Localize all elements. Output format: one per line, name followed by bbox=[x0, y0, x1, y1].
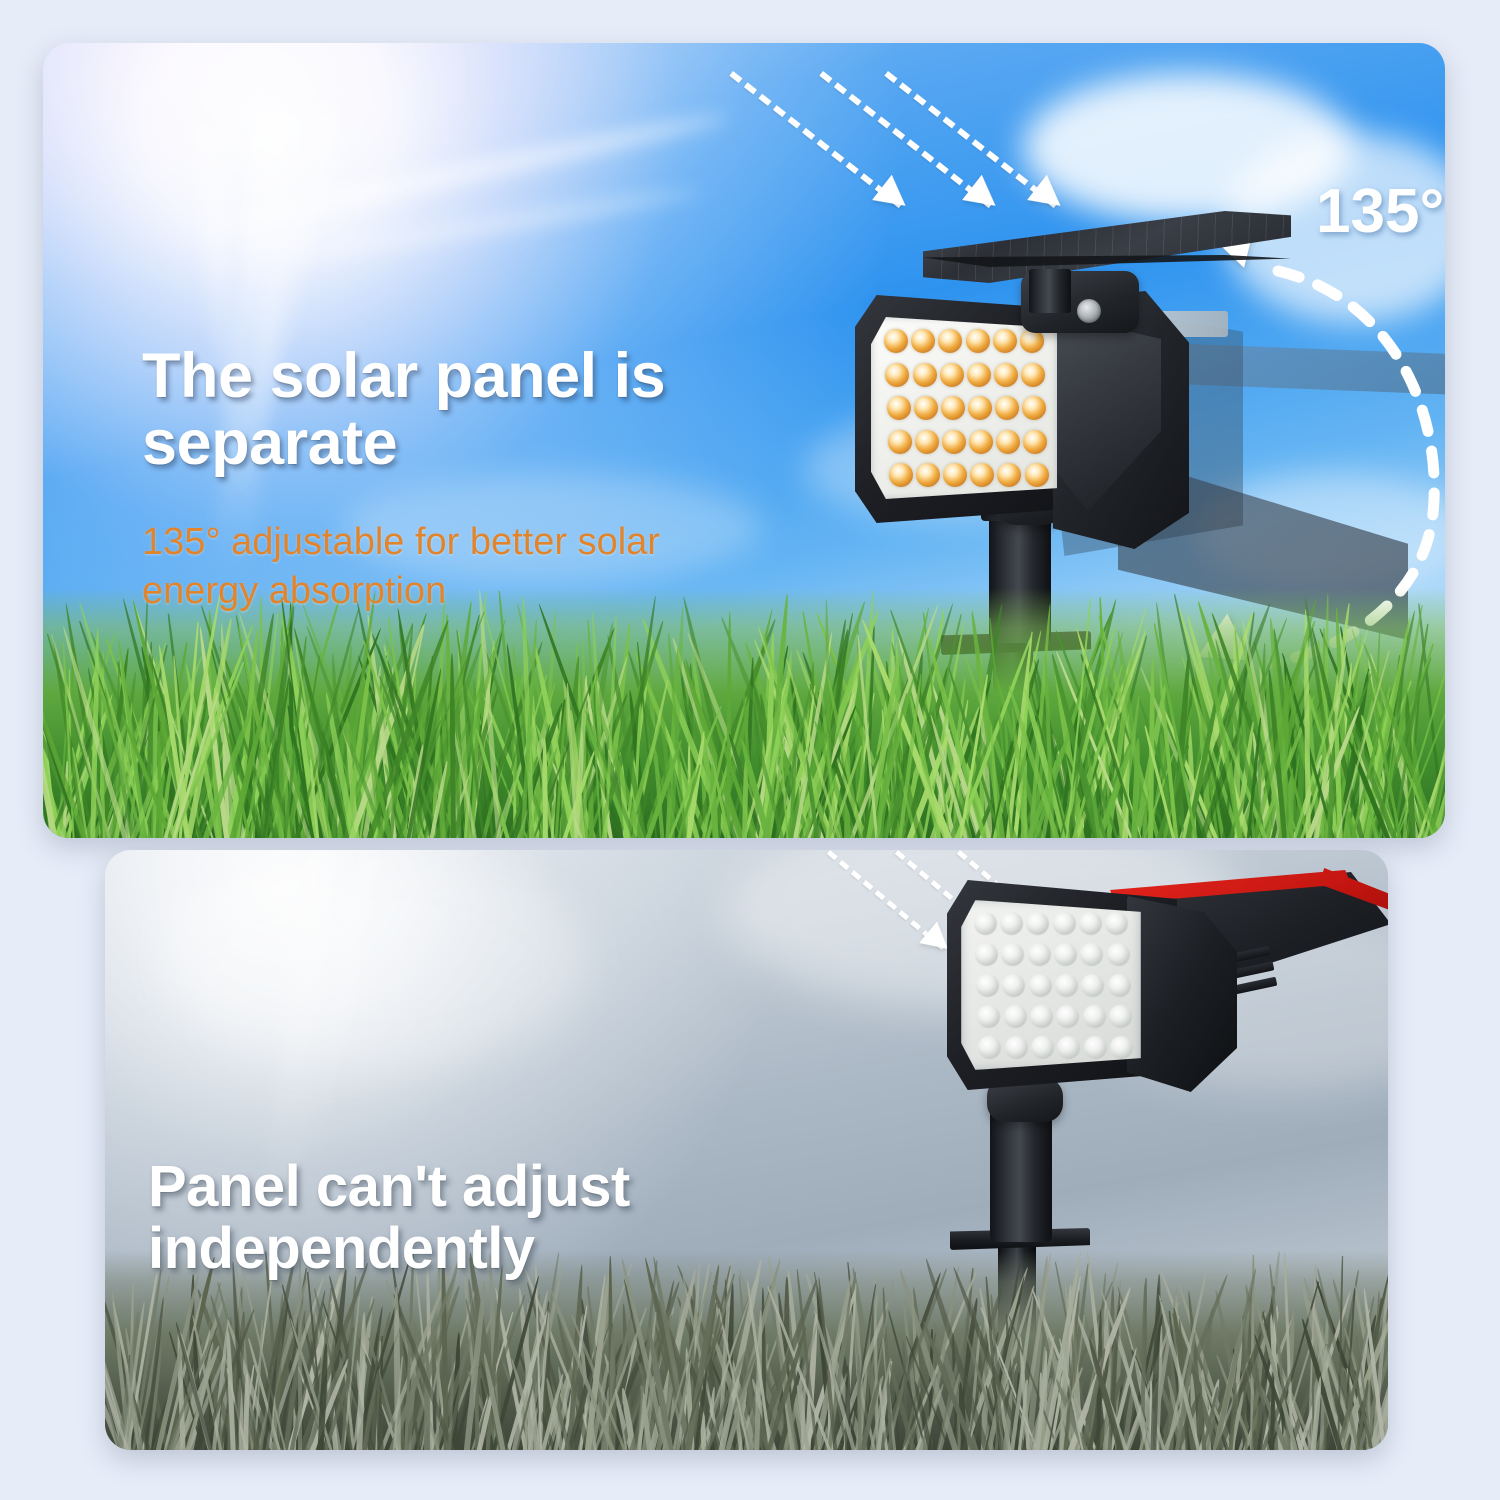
led-array bbox=[961, 900, 1141, 1070]
green-grass-foreground bbox=[43, 588, 1445, 838]
led-lens-face bbox=[961, 900, 1141, 1070]
top-headline: The solar panel is separate bbox=[142, 343, 842, 477]
led-bulb bbox=[976, 974, 999, 997]
led-bulb bbox=[997, 463, 1021, 487]
hinge-bolt bbox=[1077, 299, 1101, 323]
led-bulb bbox=[1000, 912, 1023, 935]
top-feature-panel: The solar panel is separate 135° adjusta… bbox=[43, 43, 1445, 838]
led-bulb bbox=[1029, 974, 1052, 997]
led-bulb bbox=[942, 430, 966, 454]
led-bulb bbox=[1108, 974, 1131, 997]
led-bulb bbox=[938, 329, 962, 353]
led-bulb bbox=[977, 1005, 1000, 1028]
led-bulb bbox=[1057, 1036, 1080, 1059]
led-bulb bbox=[1023, 430, 1047, 454]
led-bulb bbox=[995, 396, 1019, 420]
led-bulb bbox=[970, 463, 994, 487]
led-array bbox=[871, 317, 1057, 499]
led-bulb bbox=[1054, 943, 1077, 966]
led-bulb bbox=[1002, 974, 1025, 997]
led-bulb bbox=[996, 430, 1020, 454]
led-bulb bbox=[966, 329, 990, 353]
led-bulb bbox=[889, 463, 913, 487]
led-bulb bbox=[1084, 1036, 1107, 1059]
led-bulb bbox=[1028, 943, 1051, 966]
led-bulb bbox=[1107, 943, 1130, 966]
bottom-comparison-panel: Panel can't adjust independently bbox=[105, 850, 1388, 1450]
led-bulb bbox=[1031, 1036, 1054, 1059]
led-bulb bbox=[1005, 1036, 1028, 1059]
led-bulb bbox=[913, 363, 937, 387]
led-bulb bbox=[911, 329, 935, 353]
comparison-infographic: The solar panel is separate 135° adjusta… bbox=[0, 0, 1500, 1500]
led-bulb bbox=[1055, 974, 1078, 997]
led-bulb bbox=[884, 329, 908, 353]
led-bulb bbox=[1021, 363, 1045, 387]
led-bulb bbox=[885, 363, 909, 387]
led-bulb bbox=[916, 463, 940, 487]
led-bulb bbox=[978, 1036, 1001, 1059]
led-bulb bbox=[1110, 1036, 1133, 1059]
led-bulb bbox=[1080, 943, 1103, 966]
led-lens-face bbox=[871, 317, 1057, 499]
led-bulb bbox=[1109, 1005, 1132, 1028]
led-bulb bbox=[915, 430, 939, 454]
led-bulb bbox=[975, 943, 998, 966]
grass-blade bbox=[424, 1353, 430, 1450]
led-bulb bbox=[914, 396, 938, 420]
led-bulb bbox=[967, 363, 991, 387]
top-subline: 135° adjustable for better solar energy … bbox=[142, 518, 822, 615]
panel-hinge-stem bbox=[1029, 269, 1071, 313]
grass-blades bbox=[43, 588, 1445, 838]
led-bulb bbox=[1026, 912, 1049, 935]
led-bulb bbox=[1022, 396, 1046, 420]
led-bulb bbox=[1083, 1005, 1106, 1028]
led-bulb bbox=[943, 463, 967, 487]
led-bulb bbox=[968, 396, 992, 420]
led-bulb bbox=[1030, 1005, 1053, 1028]
led-bulb bbox=[993, 329, 1017, 353]
bottom-headline-holder: Panel can't adjust independently bbox=[148, 1095, 908, 1279]
led-bulb bbox=[974, 912, 997, 935]
led-bulb bbox=[1025, 463, 1049, 487]
led-bulb bbox=[1001, 943, 1024, 966]
led-bulb bbox=[941, 396, 965, 420]
led-bulb bbox=[1105, 912, 1128, 935]
led-bulb bbox=[1081, 974, 1104, 997]
led-bulb bbox=[1053, 912, 1076, 935]
bottom-headline: Panel can't adjust independently bbox=[148, 1154, 630, 1280]
led-bulb bbox=[1056, 1005, 1079, 1028]
angle-label-135: 135° bbox=[1316, 176, 1444, 247]
led-bulb bbox=[940, 363, 964, 387]
led-bulb bbox=[994, 363, 1018, 387]
led-bulb bbox=[1079, 912, 1102, 935]
led-bulb bbox=[888, 430, 912, 454]
led-bulb bbox=[887, 396, 911, 420]
led-bulb bbox=[969, 430, 993, 454]
led-bulb bbox=[1004, 1005, 1027, 1028]
